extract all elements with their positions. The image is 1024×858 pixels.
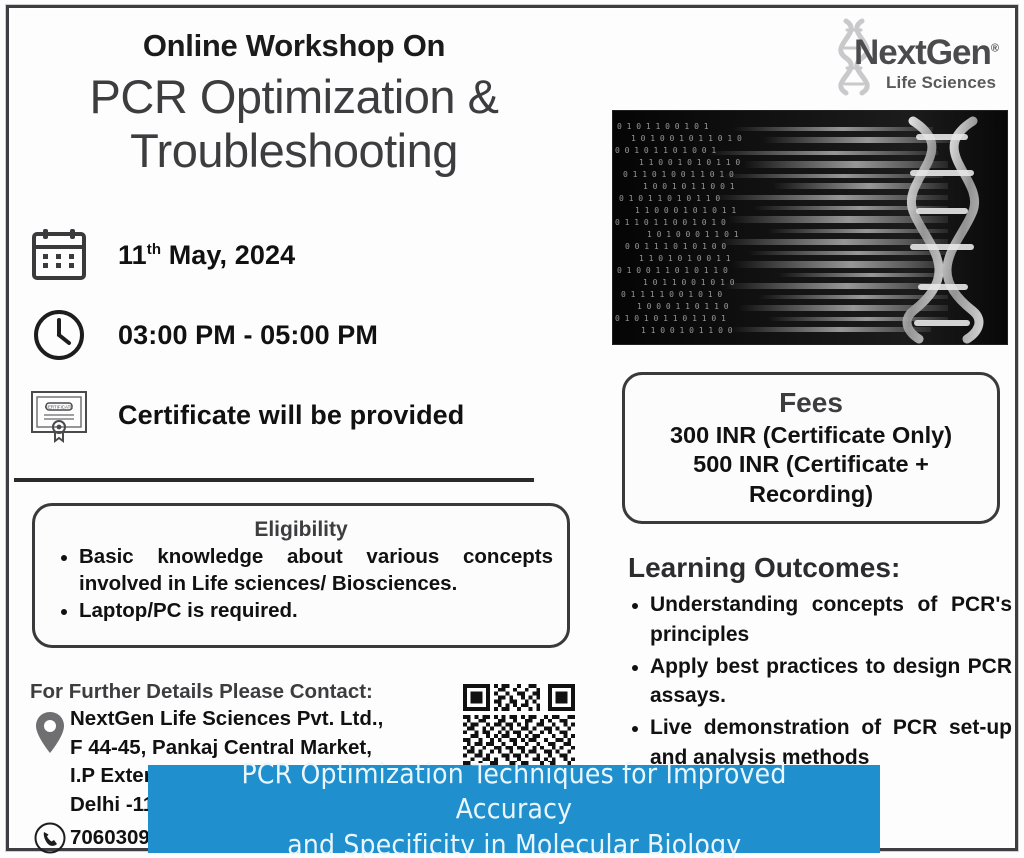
workshop-kicker: Online Workshop On	[14, 28, 574, 64]
date-rest: May, 2024	[169, 240, 296, 270]
eligibility-title: Eligibility	[49, 518, 553, 542]
logo-name: NextGen®	[854, 35, 998, 70]
detail-row-certificate: CERTIFICATE Certificate will be provided	[28, 384, 464, 446]
date-ordinal: th	[147, 241, 161, 258]
svg-text:1 0 0 1 0 1 1 0 0 1: 1 0 0 1 0 1 1 0 0 1	[643, 182, 735, 191]
learning-outcomes-list: Understanding concepts of PCR's principl…	[620, 590, 1012, 773]
page-title: PCR Optimization & Troubleshooting	[14, 70, 574, 177]
learning-outcomes-title: Learning Outcomes:	[628, 552, 1012, 584]
detail-certificate-text: Certificate will be provided	[118, 400, 464, 431]
svg-text:0 1 0 0 1 1 0 1 0 1 1 0: 0 1 0 0 1 1 0 1 0 1 1 0	[617, 266, 728, 275]
title-line-2: Troubleshooting	[14, 124, 574, 178]
banner-line-1: PCR Optimization Techniques for Improved…	[185, 756, 844, 827]
learning-outcomes-section: Learning Outcomes: Understanding concept…	[620, 552, 1012, 775]
video-title-banner: PCR Optimization Techniques for Improved…	[148, 765, 880, 853]
svg-text:0 1 1 0 1 0 0 1 1 0 1 0: 0 1 1 0 1 0 0 1 1 0 1 0	[623, 170, 734, 179]
svg-text:1 0 1 0 0 1 0 1 1 0 1 0: 1 0 1 0 0 1 0 1 1 0 1 0	[631, 134, 742, 143]
contact-heading: For Further Details Please Contact:	[30, 680, 450, 704]
svg-text:1 1 0 0 1 0 1 1 0 0: 1 1 0 0 1 0 1 1 0 0	[641, 326, 733, 335]
contact-phone-number: 7060309	[70, 826, 150, 850]
logo-tagline: Life Sciences	[886, 73, 996, 93]
svg-text:0 0 1 1 1 0 1 0 1 0 0: 0 0 1 1 1 0 1 0 1 0 0	[625, 242, 726, 251]
svg-text:0 0 1 0 1 1 0 1 0 0 1: 0 0 1 0 1 1 0 1 0 0 1	[615, 146, 716, 155]
registered-mark: ®	[991, 42, 998, 54]
svg-text:0 1 0 1 1 0 1 0 1 1 0: 0 1 0 1 1 0 1 0 1 1 0	[619, 194, 720, 203]
svg-text:0 1 0 1 1 0 0 1 0 1: 0 1 0 1 1 0 0 1 0 1	[617, 122, 709, 131]
detail-row-date: 11th May, 2024	[28, 224, 295, 286]
list-item: Basic knowledge about various concepts i…	[79, 544, 553, 597]
svg-text:1 0 1 1 0 0 1 0 1 0: 1 0 1 1 0 0 1 0 1 0	[643, 278, 735, 287]
list-item: Apply best practices to design PCR assay…	[650, 652, 1012, 712]
svg-text:1 0 0 0 1 1 0 1 1 0: 1 0 0 0 1 1 0 1 1 0	[637, 302, 729, 311]
svg-text:0 1 1 1 1 0 0 1 0 1 0: 0 1 1 1 1 0 0 1 0 1 0	[621, 290, 722, 299]
svg-text:CERTIFICATE: CERTIFICATE	[45, 405, 73, 410]
date-day: 11	[118, 240, 147, 270]
svg-text:1 0 1 0 0 0 1 1 0 1: 1 0 1 0 0 0 1 1 0 1	[647, 230, 739, 239]
detail-date-text: 11th May, 2024	[118, 240, 295, 271]
svg-text:1 1 0 1 0 1 0 0 1 1: 1 1 0 1 0 1 0 0 1 1	[639, 254, 731, 263]
poster-root: Online Workshop On PCR Optimization & Tr…	[0, 0, 1024, 858]
eligibility-card: Eligibility Basic knowledge about variou…	[32, 503, 570, 648]
clock-icon	[28, 304, 90, 366]
dna-binary-code-image: 0 1 0 1 1 0 0 1 0 1 1 0 1 0 0 1 0 1 1 0 …	[612, 110, 1008, 345]
phone-icon	[30, 822, 70, 854]
fees-card: Fees 300 INR (Certificate Only) 500 INR …	[622, 372, 1000, 524]
svg-text:0 1 0 1 0 1 1 0 1 1 0 1: 0 1 0 1 0 1 1 0 1 1 0 1	[615, 314, 726, 323]
eligibility-list: Basic knowledge about various concepts i…	[49, 544, 553, 625]
left-column: Online Workshop On PCR Optimization & Tr…	[14, 12, 600, 842]
address-line: NextGen Life Sciences Pvt. Ltd.,	[70, 705, 383, 734]
svg-text:0 1 1 0 1 1 0 0 1 0 1 0: 0 1 1 0 1 1 0 0 1 0 1 0	[615, 218, 726, 227]
svg-text:1 1 0 0 0 1 0 1 0 1 1: 1 1 0 0 0 1 0 1 0 1 1	[635, 206, 736, 215]
svg-text:1 1 0 0 1 0 1 0 1 1 0: 1 1 0 0 1 0 1 0 1 1 0	[639, 158, 740, 167]
list-item: Understanding concepts of PCR's principl…	[650, 590, 1012, 650]
detail-time-text: 03:00 PM - 05:00 PM	[118, 320, 378, 351]
list-item: Laptop/PC is required.	[79, 598, 553, 625]
detail-row-time: 03:00 PM - 05:00 PM	[28, 304, 378, 366]
right-column: NextGen® Life Sciences	[608, 12, 1014, 842]
section-divider	[14, 478, 534, 482]
calendar-icon	[28, 224, 90, 286]
title-line-1: PCR Optimization &	[14, 70, 574, 124]
logo-name-text: NextGen	[854, 33, 991, 72]
brand-logo: NextGen® Life Sciences	[816, 18, 1006, 96]
location-pin-icon	[30, 705, 70, 755]
banner-line-2: and Specificity in Molecular Biology	[287, 827, 741, 858]
fees-line: 500 INR (Certificate + Recording)	[635, 450, 987, 509]
fees-title: Fees	[779, 387, 843, 419]
fees-line: 300 INR (Certificate Only)	[670, 421, 952, 451]
certificate-icon: CERTIFICATE	[28, 384, 90, 446]
